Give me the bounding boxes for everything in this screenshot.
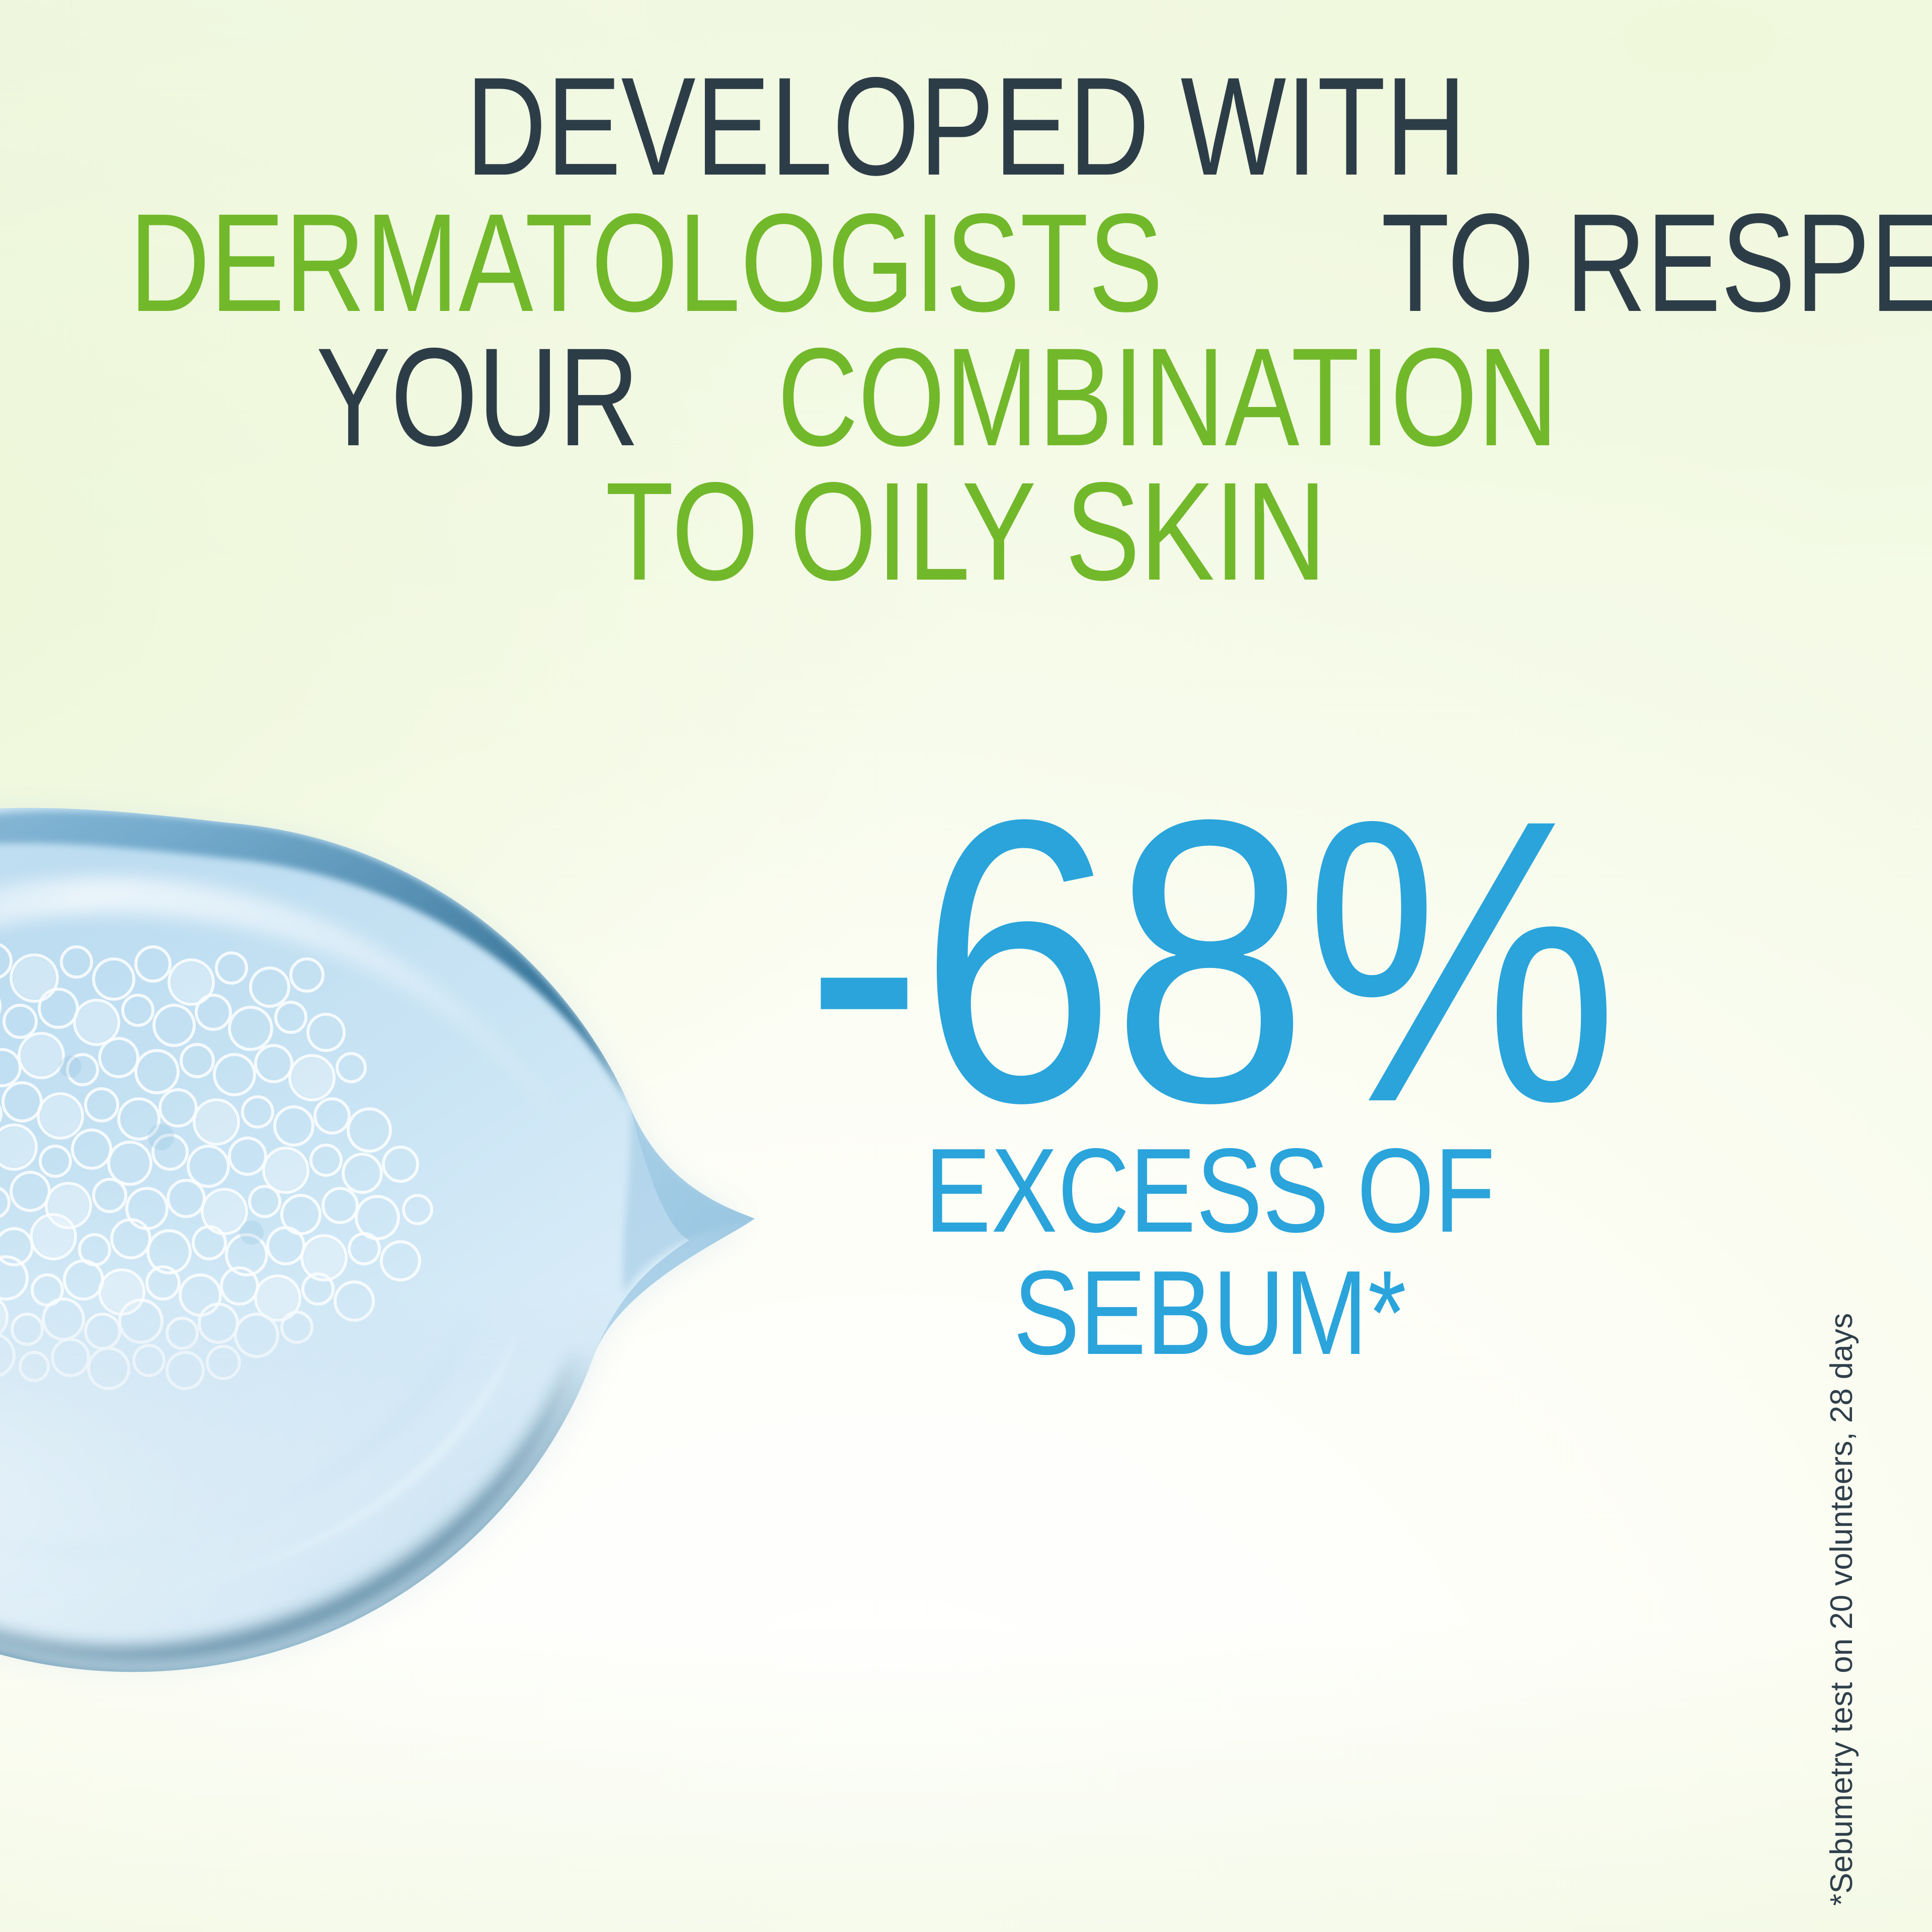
headline: DEVELOPED WITH DERMATOLOGISTS TO RESPECT… [0,59,1932,599]
water-droplet-image [0,785,780,1771]
headline-line-1-navy: DEVELOPED WITH [466,59,1467,194]
stat-subtitle: EXCESS OF SEBUM* [750,1130,1670,1375]
headline-line-3: YOUR COMBINATION [0,330,1932,464]
droplet-svg [0,785,780,1771]
headline-line-4-green: TO OILY SKIN [605,464,1326,599]
headline-line-2-navy: TO RESPECT [1382,196,1932,330]
stat-subtitle-line-1: EXCESS OF [828,1130,1592,1252]
droplet-tip-shade [623,1105,754,1293]
headline-line-3-navy: YOUR [316,330,639,464]
stat-value: -68% [805,800,1615,1122]
headline-line-2: DERMATOLOGISTS TO RESPECT [0,196,1932,330]
footnote-text: *Sebumetry test on 20 volunteers, 28 day… [1824,1313,1860,1906]
headline-line-3-green: COMBINATION [777,330,1558,464]
headline-line-4: TO OILY SKIN [0,464,1932,599]
stat-block: -68% EXCESS OF SEBUM* [750,800,1670,1375]
headline-line-1: DEVELOPED WITH [0,59,1932,194]
bubble-fade-bottom [0,1318,780,1771]
headline-line-2-green: DERMATOLOGISTS [129,196,1163,330]
stat-subtitle-line-2: SEBUM* [828,1252,1592,1375]
